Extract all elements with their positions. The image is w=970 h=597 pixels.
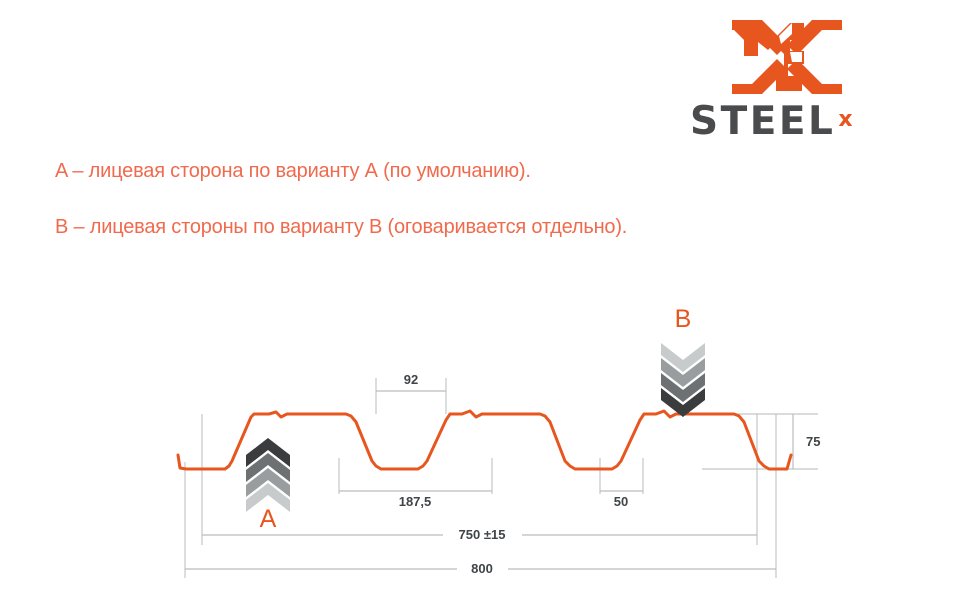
drawing-page: STEEL x A – лицевая сторона по варианту … (0, 0, 970, 597)
dimension-value-overall-width: 800 (471, 561, 493, 576)
marker-b-chevrons (661, 343, 705, 417)
marker-a-chevrons (246, 438, 290, 512)
marker-label-b: B (661, 305, 705, 334)
marker-label-a: A (246, 505, 290, 534)
dimension-value-rib-top-width: 92 (404, 372, 418, 387)
profile-technical-drawing (0, 0, 970, 597)
dimension-value-valley-width: 50 (614, 494, 628, 509)
dimension-value-profile-height: 75 (806, 434, 820, 449)
dimension-value-rib-pitch: 187,5 (399, 494, 432, 509)
dimension-value-effective-width: 750 ±15 (459, 527, 506, 542)
